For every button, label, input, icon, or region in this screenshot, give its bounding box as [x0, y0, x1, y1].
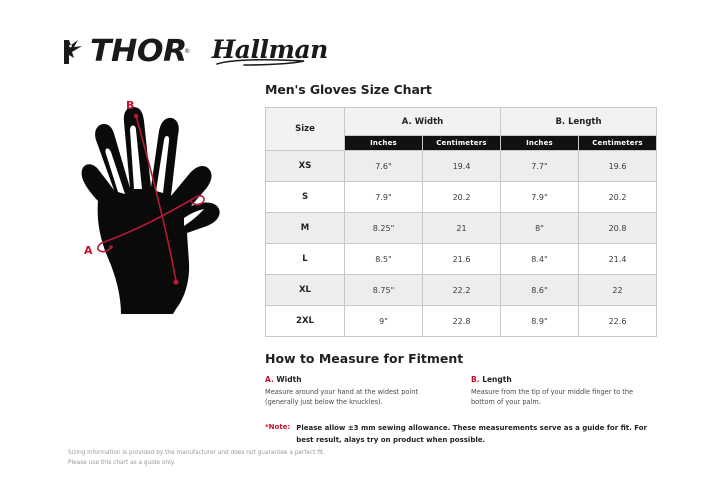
cell-width-in: 8.5" — [345, 244, 423, 275]
col-header-width-inches: Inches — [345, 136, 423, 151]
cell-size: M — [266, 213, 345, 244]
how-to-item-heading: B. Length — [471, 375, 659, 384]
how-to-item-letter: A. — [265, 375, 274, 384]
how-to-measure-section: How to Measure for Fitment A. Width Meas… — [265, 351, 659, 446]
how-to-item-name: Length — [480, 375, 512, 384]
note-block: *Note: Please allow ±3 mm sewing allowan… — [265, 423, 659, 445]
cell-length-cm: 20.2 — [579, 182, 657, 213]
table-row: M 8.25" 21 8" 20.8 — [266, 213, 657, 244]
cell-length-in: 8" — [501, 213, 579, 244]
cell-width-cm: 19.4 — [423, 151, 501, 182]
note-label: *Note: — [265, 423, 290, 431]
table-row: 2XL 9" 22.8 8.9" 22.6 — [266, 306, 657, 337]
cell-width-cm: 22.2 — [423, 275, 501, 306]
how-to-measure-columns: A. Width Measure around your hand at the… — [265, 375, 659, 407]
diagram-label-a: A — [84, 244, 93, 257]
how-to-measure-title: How to Measure for Fitment — [265, 351, 659, 366]
cell-width-in: 8.75" — [345, 275, 423, 306]
page-title: Men's Gloves Size Chart — [265, 82, 659, 97]
cell-width-in: 8.25" — [345, 213, 423, 244]
thor-hammer-icon — [62, 37, 88, 67]
cell-length-in: 7.9" — [501, 182, 579, 213]
col-header-size: Size — [266, 108, 345, 151]
how-to-item-text: Measure from the tip of your middle fing… — [471, 387, 659, 407]
diagram-label-b: B — [126, 99, 134, 112]
cell-length-cm: 21.4 — [579, 244, 657, 275]
cell-length-in: 8.6" — [501, 275, 579, 306]
cell-length-cm: 19.6 — [579, 151, 657, 182]
size-chart-page: THOR ® Hallman B — [0, 0, 720, 492]
cell-width-cm: 21 — [423, 213, 501, 244]
cell-size: XS — [266, 151, 345, 182]
table-row: S 7.9" 20.2 7.9" 20.2 — [266, 182, 657, 213]
cell-length-in: 8.4" — [501, 244, 579, 275]
table-head: Size A. Width B. Length Inches Centimete… — [266, 108, 657, 151]
cell-width-cm: 22.8 — [423, 306, 501, 337]
cell-length-cm: 22.6 — [579, 306, 657, 337]
how-to-item-width: A. Width Measure around your hand at the… — [265, 375, 453, 407]
cell-length-cm: 20.8 — [579, 213, 657, 244]
cell-width-in: 7.9" — [345, 182, 423, 213]
cell-size: S — [266, 182, 345, 213]
cell-length-in: 8.9" — [501, 306, 579, 337]
thor-logo: THOR ® — [62, 37, 190, 67]
note-text: Please allow ±3 mm sewing allowance. The… — [296, 423, 648, 445]
cell-size: XL — [266, 275, 345, 306]
cell-length-cm: 22 — [579, 275, 657, 306]
table-row: XL 8.75" 22.2 8.6" 22 — [266, 275, 657, 306]
how-to-item-letter: B. — [471, 375, 480, 384]
col-header-length-inches: Inches — [501, 136, 579, 151]
footer-disclaimer: Sizing information is provided by the ma… — [68, 448, 398, 469]
how-to-item-length: B. Length Measure from the tip of your m… — [471, 375, 659, 407]
table-row: L 8.5" 21.6 8.4" 21.4 — [266, 244, 657, 275]
cell-width-cm: 20.2 — [423, 182, 501, 213]
cell-width-in: 9" — [345, 306, 423, 337]
cell-length-in: 7.7" — [501, 151, 579, 182]
table-row: XS 7.6" 19.4 7.7" 19.6 — [266, 151, 657, 182]
thor-registered-icon: ® — [184, 49, 190, 55]
col-header-width-centimeters: Centimeters — [423, 136, 501, 151]
footer-line-1: Sizing information is provided by the ma… — [68, 448, 398, 458]
table-body: XS 7.6" 19.4 7.7" 19.6 S 7.9" 20.2 7.9" … — [266, 151, 657, 337]
cell-size: L — [266, 244, 345, 275]
how-to-item-heading: A. Width — [265, 375, 453, 384]
glove-silhouette-icon: B A — [58, 96, 273, 321]
thor-wordmark: THOR — [90, 37, 187, 67]
col-header-length-centimeters: Centimeters — [579, 136, 657, 151]
table-head-row-groups: Size A. Width B. Length — [266, 108, 657, 136]
hallman-logo: Hallman — [212, 37, 328, 67]
glove-diagram: B A — [58, 96, 273, 321]
cell-width-cm: 21.6 — [423, 244, 501, 275]
size-chart-table: Size A. Width B. Length Inches Centimete… — [265, 107, 657, 337]
col-header-group-width: A. Width — [345, 108, 501, 136]
col-header-group-length: B. Length — [501, 108, 657, 136]
cell-size: 2XL — [266, 306, 345, 337]
brand-logo-row: THOR ® Hallman — [62, 32, 328, 72]
cell-width-in: 7.6" — [345, 151, 423, 182]
how-to-item-name: Width — [274, 375, 302, 384]
chart-column: Men's Gloves Size Chart Size A. Width B.… — [265, 82, 659, 446]
footer-line-2: Please use this chart as a guide only. — [68, 458, 398, 468]
how-to-item-text: Measure around your hand at the widest p… — [265, 387, 453, 407]
